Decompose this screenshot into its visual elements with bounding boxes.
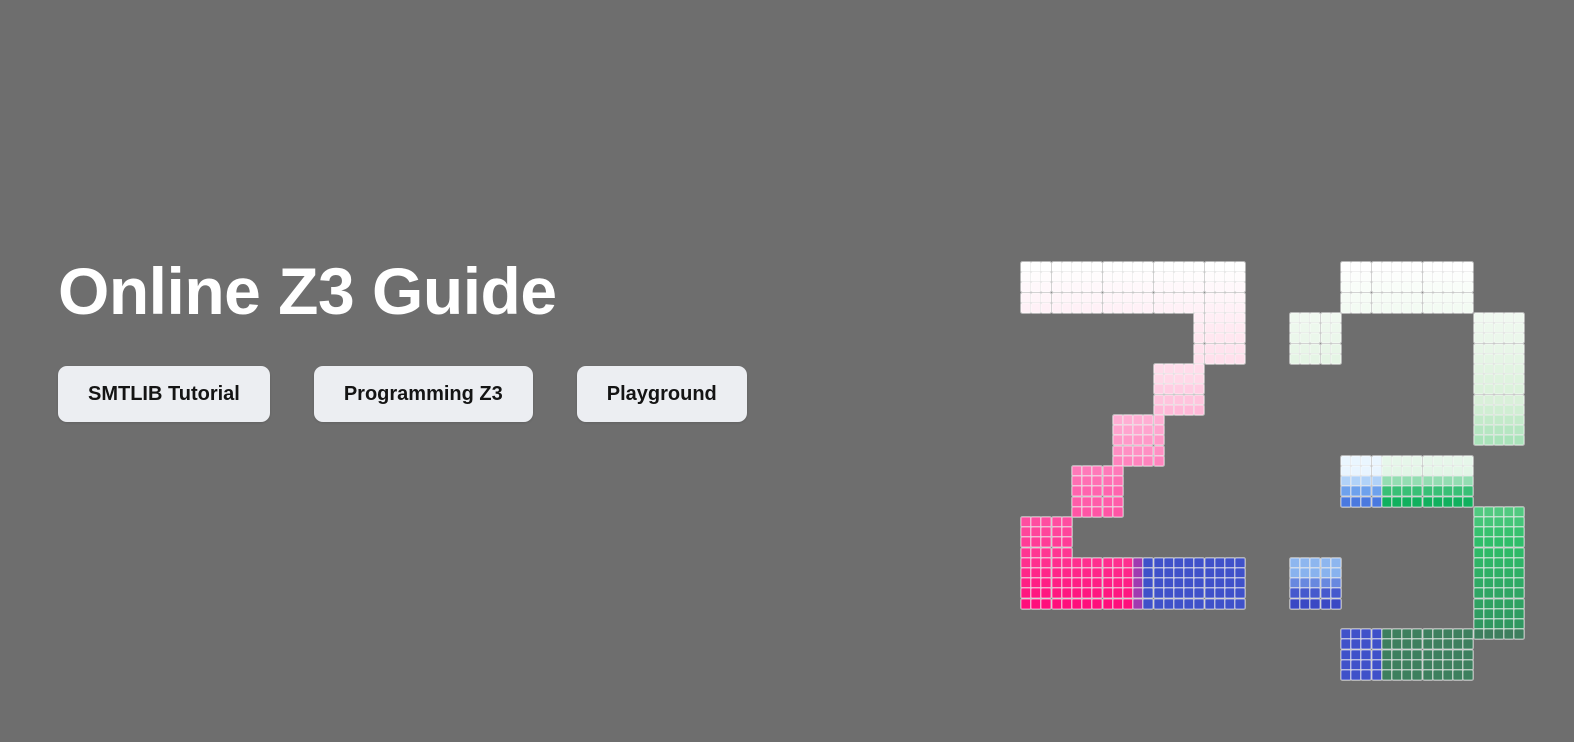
- logo-pixel: [1321, 558, 1331, 568]
- logo-pixel: [1215, 303, 1225, 313]
- logo-pixel: [1504, 578, 1514, 588]
- logo-pixel: [1123, 272, 1133, 282]
- logo-pixel: [1300, 588, 1310, 598]
- logo-pixel: [1052, 303, 1062, 313]
- logo-pixel: [1484, 435, 1494, 445]
- logo-pixel: [1514, 425, 1524, 435]
- logo-pixel: [1143, 415, 1153, 425]
- logo-pixel: [1372, 282, 1382, 292]
- logo-pixel: [1031, 548, 1041, 558]
- logo-pixel: [1184, 384, 1194, 394]
- logo-pixel: [1164, 599, 1174, 609]
- logo-pixel: [1361, 456, 1371, 466]
- logo-pixel: [1412, 466, 1422, 476]
- logo-pixel: [1164, 364, 1174, 374]
- logo-pixel: [1310, 599, 1320, 609]
- logo-pixel: [1143, 293, 1153, 303]
- logo-pixel: [1113, 262, 1123, 272]
- logo-pixel: [1433, 486, 1443, 496]
- logo-pixel: [1514, 374, 1524, 384]
- logo-pixel: [1392, 486, 1402, 496]
- logo-pixel: [1453, 293, 1463, 303]
- logo-pixel: [1310, 344, 1320, 354]
- logo-pixel: [1041, 293, 1051, 303]
- logo-pixel: [1402, 293, 1412, 303]
- logo-pixel: [1433, 476, 1443, 486]
- logo-pixel: [1321, 313, 1331, 323]
- logo-pixel: [1504, 588, 1514, 598]
- logo-pixel: [1402, 466, 1412, 476]
- logo-pixel: [1514, 588, 1524, 598]
- logo-pixel: [1225, 272, 1235, 282]
- logo-pixel: [1494, 578, 1504, 588]
- logo-pixel: [1504, 425, 1514, 435]
- logo-pixel: [1072, 588, 1082, 598]
- logo-pixel: [1474, 609, 1484, 619]
- logo-pixel: [1123, 282, 1133, 292]
- logo-pixel: [1453, 629, 1463, 639]
- logo-pixel: [1062, 527, 1072, 537]
- logo-pixel: [1463, 262, 1473, 272]
- logo-pixel: [1341, 293, 1351, 303]
- logo-pixel: [1331, 333, 1341, 343]
- logo-pixel: [1215, 313, 1225, 323]
- logo-pixel: [1113, 578, 1123, 588]
- logo-pixel: [1154, 395, 1164, 405]
- logo-pixel: [1123, 599, 1133, 609]
- logo-pixel: [1113, 599, 1123, 609]
- logo-pixel: [1194, 293, 1204, 303]
- logo-pixel: [1443, 486, 1453, 496]
- logo-pixel: [1123, 415, 1133, 425]
- logo-pixel: [1174, 293, 1184, 303]
- logo-pixel: [1392, 303, 1402, 313]
- logo-pixel: [1092, 303, 1102, 313]
- logo-pixel: [1194, 344, 1204, 354]
- logo-pixel: [1474, 384, 1484, 394]
- playground-button[interactable]: Playground: [577, 366, 747, 422]
- logo-pixel: [1021, 568, 1031, 578]
- logo-pixel: [1072, 466, 1082, 476]
- logo-pixel: [1392, 639, 1402, 649]
- logo-pixel: [1215, 293, 1225, 303]
- logo-pixel: [1174, 282, 1184, 292]
- logo-pixel: [1351, 650, 1361, 660]
- logo-pixel: [1372, 456, 1382, 466]
- logo-pixel: [1184, 405, 1194, 415]
- logo-pixel: [1423, 486, 1433, 496]
- logo-pixel: [1133, 293, 1143, 303]
- hero-section: Online Z3 Guide SMTLIB Tutorial Programm…: [0, 0, 1574, 742]
- logo-pixel: [1484, 354, 1494, 364]
- logo-pixel: [1331, 558, 1341, 568]
- logo-pixel: [1113, 558, 1123, 568]
- logo-pixel: [1205, 323, 1215, 333]
- logo-pixel: [1103, 303, 1113, 313]
- logo-pixel: [1443, 466, 1453, 476]
- logo-pixel: [1031, 293, 1041, 303]
- logo-pixel: [1484, 558, 1494, 568]
- logo-pixel: [1392, 476, 1402, 486]
- hero-text-block: Online Z3 Guide SMTLIB Tutorial Programm…: [58, 258, 958, 422]
- logo-pixel: [1372, 486, 1382, 496]
- logo-pixel: [1041, 599, 1051, 609]
- smtlib-tutorial-button[interactable]: SMTLIB Tutorial: [58, 366, 270, 422]
- logo-pixel: [1164, 405, 1174, 415]
- logo-pixel: [1194, 599, 1204, 609]
- logo-pixel: [1300, 568, 1310, 578]
- logo-pixel: [1235, 303, 1245, 313]
- logo-pixel: [1372, 272, 1382, 282]
- logo-pixel: [1133, 558, 1143, 568]
- logo-pixel: [1052, 599, 1062, 609]
- logo-pixel: [1494, 537, 1504, 547]
- logo-pixel: [1382, 497, 1392, 507]
- logo-pixel: [1062, 599, 1072, 609]
- logo-pixel: [1052, 272, 1062, 282]
- logo-pixel: [1113, 272, 1123, 282]
- logo-pixel: [1372, 650, 1382, 660]
- logo-pixel: [1235, 599, 1245, 609]
- logo-pixel: [1052, 558, 1062, 568]
- logo-pixel: [1133, 578, 1143, 588]
- logo-pixel: [1321, 578, 1331, 588]
- logo-pixel: [1474, 323, 1484, 333]
- logo-pixel: [1154, 364, 1164, 374]
- logo-pixel: [1184, 588, 1194, 598]
- logo-pixel: [1031, 537, 1041, 547]
- logo-pixel: [1474, 558, 1484, 568]
- logo-pixel: [1143, 588, 1153, 598]
- logo-pixel: [1504, 619, 1514, 629]
- logo-pixel: [1382, 272, 1392, 282]
- logo-pixel: [1031, 272, 1041, 282]
- logo-pixel: [1351, 303, 1361, 313]
- logo-pixel: [1494, 354, 1504, 364]
- logo-pixel: [1290, 313, 1300, 323]
- logo-pixel: [1143, 435, 1153, 445]
- logo-pixel: [1164, 568, 1174, 578]
- logo-pixel: [1514, 609, 1524, 619]
- logo-pixel: [1300, 354, 1310, 364]
- logo-pixel: [1184, 558, 1194, 568]
- logo-pixel: [1463, 466, 1473, 476]
- logo-pixel: [1154, 415, 1164, 425]
- logo-pixel: [1082, 293, 1092, 303]
- logo-pixel: [1225, 588, 1235, 598]
- logo-pixel: [1494, 323, 1504, 333]
- logo-pixel: [1092, 578, 1102, 588]
- logo-pixel: [1433, 629, 1443, 639]
- logo-pixel: [1082, 272, 1092, 282]
- logo-pixel: [1154, 374, 1164, 384]
- logo-pixel: [1052, 282, 1062, 292]
- logo-pixel: [1504, 415, 1514, 425]
- logo-pixel: [1474, 405, 1484, 415]
- logo-pixel: [1412, 486, 1422, 496]
- logo-pixel: [1082, 486, 1092, 496]
- logo-pixel: [1133, 272, 1143, 282]
- logo-pixel: [1402, 629, 1412, 639]
- logo-pixel: [1174, 303, 1184, 313]
- logo-pixel: [1494, 374, 1504, 384]
- logo-pixel: [1484, 384, 1494, 394]
- logo-pixel: [1463, 650, 1473, 660]
- logo-pixel: [1514, 323, 1524, 333]
- logo-pixel: [1164, 282, 1174, 292]
- logo-pixel: [1382, 629, 1392, 639]
- logo-pixel: [1154, 303, 1164, 313]
- logo-pixel: [1174, 262, 1184, 272]
- logo-pixel: [1123, 303, 1133, 313]
- logo-pixel: [1341, 262, 1351, 272]
- logo-pixel: [1154, 446, 1164, 456]
- logo-pixel: [1514, 364, 1524, 374]
- logo-pixel: [1062, 282, 1072, 292]
- logo-pixel: [1453, 660, 1463, 670]
- logo-pixel: [1174, 599, 1184, 609]
- logo-pixel: [1331, 588, 1341, 598]
- logo-pixel: [1225, 578, 1235, 588]
- logo-pixel: [1290, 354, 1300, 364]
- logo-pixel: [1021, 282, 1031, 292]
- z3-pixel-logo: [1021, 262, 1521, 582]
- logo-pixel: [1205, 558, 1215, 568]
- logo-pixel: [1423, 639, 1433, 649]
- logo-pixel: [1205, 293, 1215, 303]
- logo-pixel: [1402, 650, 1412, 660]
- logo-pixel: [1504, 537, 1514, 547]
- logo-pixel: [1453, 456, 1463, 466]
- logo-pixel: [1310, 333, 1320, 343]
- logo-pixel: [1194, 588, 1204, 598]
- logo-pixel: [1412, 303, 1422, 313]
- logo-pixel: [1361, 466, 1371, 476]
- logo-pixel: [1154, 405, 1164, 415]
- logo-pixel: [1290, 568, 1300, 578]
- logo-pixel: [1494, 344, 1504, 354]
- logo-pixel: [1372, 660, 1382, 670]
- logo-pixel: [1402, 282, 1412, 292]
- logo-pixel: [1412, 497, 1422, 507]
- logo-pixel: [1205, 282, 1215, 292]
- logo-pixel: [1423, 456, 1433, 466]
- logo-pixel: [1504, 384, 1514, 394]
- logo-pixel: [1154, 456, 1164, 466]
- logo-pixel: [1463, 303, 1473, 313]
- logo-pixel: [1154, 425, 1164, 435]
- logo-pixel: [1225, 344, 1235, 354]
- logo-pixel: [1453, 650, 1463, 660]
- logo-pixel: [1514, 405, 1524, 415]
- logo-pixel: [1235, 323, 1245, 333]
- logo-pixel: [1453, 486, 1463, 496]
- logo-pixel: [1072, 486, 1082, 496]
- logo-pixel: [1504, 364, 1514, 374]
- logo-pixel: [1484, 609, 1494, 619]
- logo-pixel: [1143, 446, 1153, 456]
- logo-pixel: [1443, 303, 1453, 313]
- logo-pixel: [1474, 578, 1484, 588]
- logo-pixel: [1082, 507, 1092, 517]
- logo-pixel: [1082, 568, 1092, 578]
- logo-pixel: [1474, 435, 1484, 445]
- logo-pixel: [1423, 262, 1433, 272]
- logo-pixel: [1123, 456, 1133, 466]
- logo-pixel: [1184, 578, 1194, 588]
- logo-pixel: [1494, 568, 1504, 578]
- logo-pixel: [1351, 486, 1361, 496]
- logo-pixel: [1194, 364, 1204, 374]
- logo-pixel: [1062, 303, 1072, 313]
- logo-pixel: [1154, 578, 1164, 588]
- logo-pixel: [1225, 282, 1235, 292]
- logo-pixel: [1463, 293, 1473, 303]
- logo-pixel: [1514, 619, 1524, 629]
- logo-pixel: [1474, 619, 1484, 629]
- logo-pixel: [1341, 456, 1351, 466]
- logo-pixel: [1494, 364, 1504, 374]
- logo-pixel: [1021, 588, 1031, 598]
- logo-pixel: [1484, 507, 1494, 517]
- logo-pixel: [1412, 293, 1422, 303]
- logo-pixel: [1103, 486, 1113, 496]
- logo-pixel: [1514, 568, 1524, 578]
- logo-pixel: [1205, 568, 1215, 578]
- logo-pixel: [1154, 262, 1164, 272]
- logo-pixel: [1474, 517, 1484, 527]
- logo-pixel: [1443, 629, 1453, 639]
- logo-pixel: [1341, 303, 1351, 313]
- logo-pixel: [1072, 303, 1082, 313]
- logo-pixel: [1225, 293, 1235, 303]
- logo-pixel: [1290, 333, 1300, 343]
- logo-pixel: [1031, 588, 1041, 598]
- logo-pixel: [1361, 262, 1371, 272]
- logo-pixel: [1433, 272, 1443, 282]
- logo-pixel: [1474, 527, 1484, 537]
- logo-pixel: [1300, 333, 1310, 343]
- logo-pixel: [1351, 639, 1361, 649]
- logo-pixel: [1382, 303, 1392, 313]
- logo-pixel: [1423, 466, 1433, 476]
- logo-pixel: [1154, 435, 1164, 445]
- logo-pixel: [1031, 282, 1041, 292]
- logo-pixel: [1310, 578, 1320, 588]
- logo-pixel: [1504, 333, 1514, 343]
- logo-pixel: [1392, 660, 1402, 670]
- logo-pixel: [1402, 660, 1412, 670]
- logo-pixel: [1484, 323, 1494, 333]
- logo-pixel: [1194, 282, 1204, 292]
- logo-pixel: [1300, 323, 1310, 333]
- page-title: Online Z3 Guide: [58, 258, 958, 324]
- logo-pixel: [1423, 660, 1433, 670]
- logo-pixel: [1361, 650, 1371, 660]
- logo-pixel: [1412, 456, 1422, 466]
- logo-pixel: [1423, 293, 1433, 303]
- logo-pixel: [1484, 364, 1494, 374]
- logo-pixel: [1463, 670, 1473, 680]
- logo-pixel: [1310, 588, 1320, 598]
- logo-pixel: [1433, 282, 1443, 292]
- logo-pixel: [1310, 354, 1320, 364]
- logo-pixel: [1113, 456, 1123, 466]
- logo-pixel: [1174, 272, 1184, 282]
- logo-pixel: [1504, 435, 1514, 445]
- logo-pixel: [1041, 588, 1051, 598]
- logo-pixel: [1331, 599, 1341, 609]
- logo-pixel: [1504, 405, 1514, 415]
- logo-pixel: [1021, 293, 1031, 303]
- logo-pixel: [1072, 599, 1082, 609]
- logo-pixel: [1092, 466, 1102, 476]
- logo-pixel: [1184, 282, 1194, 292]
- logo-pixel: [1092, 476, 1102, 486]
- logo-pixel: [1484, 517, 1494, 527]
- logo-pixel: [1113, 476, 1123, 486]
- logo-pixel: [1474, 599, 1484, 609]
- logo-pixel: [1062, 548, 1072, 558]
- logo-pixel: [1113, 282, 1123, 292]
- logo-pixel: [1494, 395, 1504, 405]
- logo-pixel: [1021, 558, 1031, 568]
- logo-pixel: [1143, 262, 1153, 272]
- logo-pixel: [1443, 272, 1453, 282]
- logo-pixel: [1031, 517, 1041, 527]
- logo-pixel: [1133, 435, 1143, 445]
- logo-pixel: [1174, 374, 1184, 384]
- logo-pixel: [1041, 537, 1051, 547]
- logo-pixel: [1463, 629, 1473, 639]
- logo-pixel: [1321, 344, 1331, 354]
- logo-pixel: [1031, 262, 1041, 272]
- logo-pixel: [1351, 272, 1361, 282]
- logo-pixel: [1484, 374, 1494, 384]
- logo-pixel: [1215, 558, 1225, 568]
- logo-pixel: [1205, 272, 1215, 282]
- logo-pixel: [1361, 293, 1371, 303]
- logo-pixel: [1494, 629, 1504, 639]
- logo-pixel: [1092, 293, 1102, 303]
- logo-pixel: [1164, 374, 1174, 384]
- logo-pixel: [1215, 344, 1225, 354]
- logo-pixel: [1143, 272, 1153, 282]
- logo-pixel: [1341, 466, 1351, 476]
- logo-pixel: [1235, 568, 1245, 578]
- logo-pixel: [1463, 282, 1473, 292]
- logo-pixel: [1474, 507, 1484, 517]
- logo-pixel: [1382, 486, 1392, 496]
- logo-pixel: [1184, 374, 1194, 384]
- logo-pixel: [1133, 425, 1143, 435]
- logo-pixel: [1103, 558, 1113, 568]
- logo-pixel: [1143, 599, 1153, 609]
- logo-pixel: [1290, 588, 1300, 598]
- logo-pixel: [1392, 650, 1402, 660]
- logo-pixel: [1113, 425, 1123, 435]
- logo-pixel: [1113, 303, 1123, 313]
- logo-pixel: [1021, 537, 1031, 547]
- logo-pixel: [1412, 262, 1422, 272]
- logo-pixel: [1062, 537, 1072, 547]
- logo-pixel: [1082, 599, 1092, 609]
- logo-pixel: [1052, 262, 1062, 272]
- logo-pixel: [1041, 517, 1051, 527]
- logo-pixel: [1143, 558, 1153, 568]
- programming-z3-button[interactable]: Programming Z3: [314, 366, 533, 422]
- logo-pixel: [1484, 527, 1494, 537]
